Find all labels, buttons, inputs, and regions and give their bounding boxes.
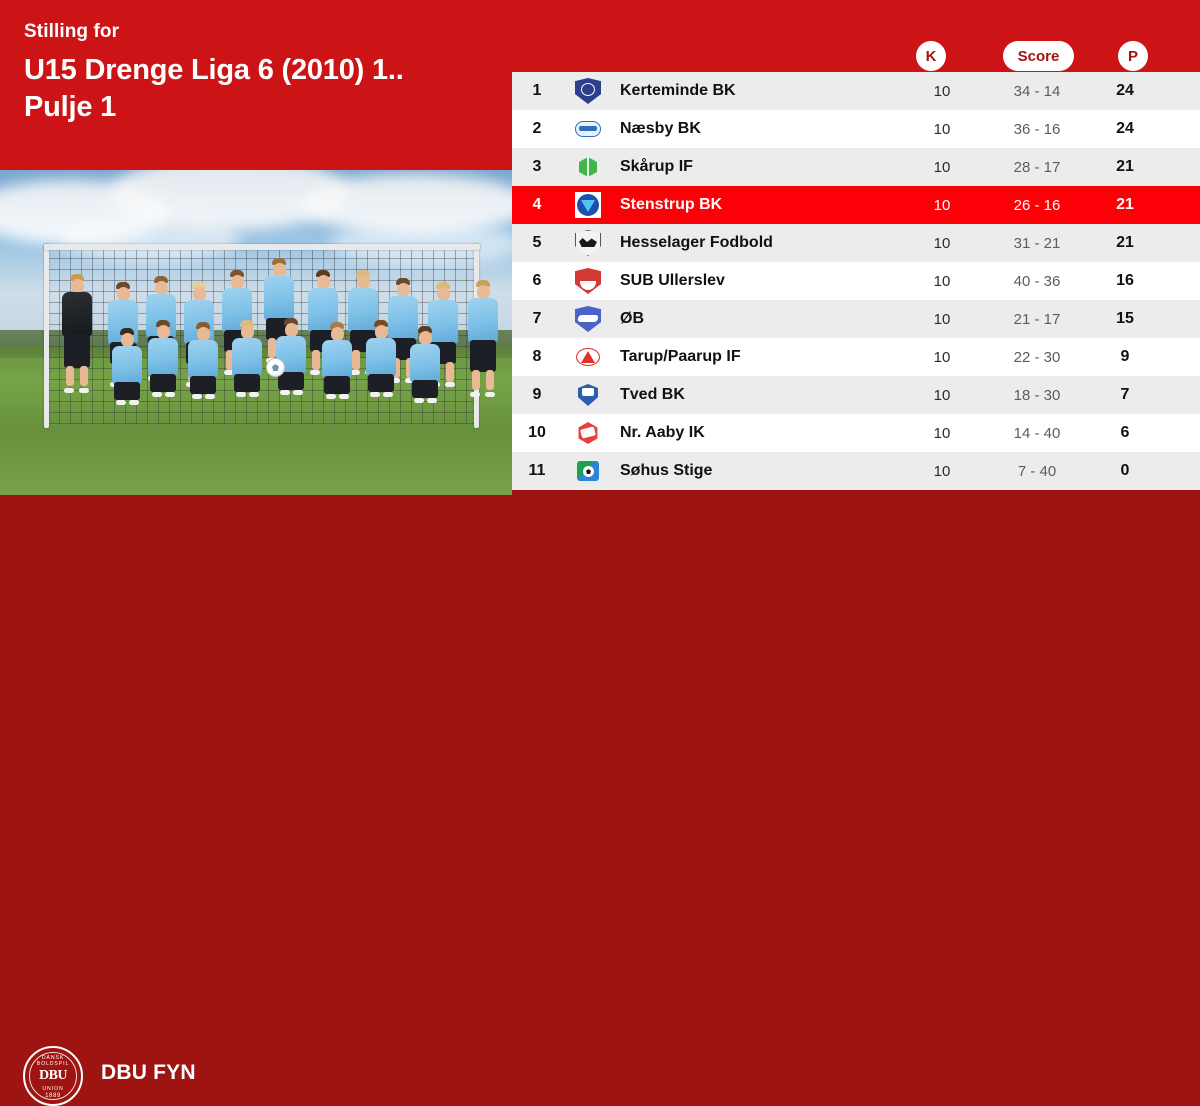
page-title-line-2: Pulje 1 <box>24 89 494 126</box>
row-goal-score: 26 - 16 <box>982 197 1092 214</box>
table-row[interactable]: 4Stenstrup BK1026 - 1621 <box>512 186 1200 224</box>
dbu-logo-icon: DANSK BOLDSPIL DBU UNION 1889 <box>23 1046 83 1106</box>
row-matches-played: 10 <box>902 197 982 214</box>
table-row[interactable]: 8Tarup/Paarup IF1022 - 309 <box>512 338 1200 376</box>
row-points: 0 <box>1092 462 1158 480</box>
row-points: 6 <box>1092 424 1158 442</box>
club-crest-cell <box>562 344 614 370</box>
page-title-line-1: U15 Drenge Liga 6 (2010) 1.. <box>24 52 494 89</box>
header-kicker: Stilling for <box>24 22 494 43</box>
row-position: 6 <box>512 272 562 290</box>
skaarup-if-crest <box>575 154 601 180</box>
row-points: 21 <box>1092 196 1158 214</box>
header-text-block: Stilling for U15 Drenge Liga 6 (2010) 1.… <box>24 22 494 126</box>
footer-org-label: DBU FYN <box>101 1061 196 1085</box>
table-row[interactable]: 7ØB1021 - 1715 <box>512 300 1200 338</box>
row-matches-played: 10 <box>902 121 982 138</box>
row-points: 21 <box>1092 158 1158 176</box>
row-goal-score: 36 - 16 <box>982 121 1092 138</box>
table-row[interactable]: 11Søhus Stige107 - 400 <box>512 452 1200 490</box>
row-position: 3 <box>512 158 562 176</box>
row-team-name: Tarup/Paarup IF <box>614 348 902 366</box>
row-position: 7 <box>512 310 562 328</box>
row-position: 8 <box>512 348 562 366</box>
row-goal-score: 22 - 30 <box>982 349 1092 366</box>
row-goal-score: 7 - 40 <box>982 463 1092 480</box>
sub-ullerslev-crest <box>575 268 601 294</box>
row-team-name: Nr. Aaby IK <box>614 424 902 442</box>
row-matches-played: 10 <box>902 235 982 252</box>
table-row[interactable]: 2Næsby BK1036 - 1624 <box>512 110 1200 148</box>
column-header-points[interactable]: P <box>1118 41 1148 71</box>
table-row[interactable]: 6SUB Ullerslev1040 - 3616 <box>512 262 1200 300</box>
club-crest-cell <box>562 192 614 218</box>
row-points: 24 <box>1092 82 1158 100</box>
table-row[interactable]: 3Skårup IF1028 - 1721 <box>512 148 1200 186</box>
row-matches-played: 10 <box>902 463 982 480</box>
row-matches-played: 10 <box>902 159 982 176</box>
row-matches-played: 10 <box>902 425 982 442</box>
club-crest-cell <box>562 78 614 104</box>
soehus-stige-crest <box>575 458 601 484</box>
row-position: 5 <box>512 234 562 252</box>
club-crest-cell <box>562 382 614 408</box>
table-row[interactable]: 5Hesselager Fodbold1031 - 2121 <box>512 224 1200 262</box>
table-row[interactable]: 1Kerteminde BK1034 - 1424 <box>512 72 1200 110</box>
row-position: 10 <box>512 424 562 442</box>
row-team-name: Skårup IF <box>614 158 902 176</box>
row-points: 7 <box>1092 386 1158 404</box>
nr-aaby-ik-crest <box>575 420 601 446</box>
club-crest-cell <box>562 230 614 256</box>
table-row[interactable]: 10Nr. Aaby IK1014 - 406 <box>512 414 1200 452</box>
row-goal-score: 21 - 17 <box>982 311 1092 328</box>
row-position: 4 <box>512 196 562 214</box>
column-header-matches[interactable]: K <box>916 41 946 71</box>
column-header-score[interactable]: Score <box>1003 41 1074 71</box>
photo-overlay <box>0 170 512 495</box>
row-points: 21 <box>1092 234 1158 252</box>
row-team-name: SUB Ullerslev <box>614 272 902 290</box>
row-team-name: Søhus Stige <box>614 462 902 480</box>
club-crest-cell <box>562 268 614 294</box>
table-row[interactable]: 9Tved BK1018 - 307 <box>512 376 1200 414</box>
row-team-name: Næsby BK <box>614 120 902 138</box>
row-goal-score: 28 - 17 <box>982 159 1092 176</box>
hesselager-fodbold-crest <box>575 230 601 256</box>
ob-crest <box>575 306 601 332</box>
row-team-name: Kerteminde BK <box>614 82 902 100</box>
logo-year: 1889 <box>25 1093 81 1099</box>
row-team-name: Stenstrup BK <box>614 196 902 214</box>
footer-band: DANSK BOLDSPIL DBU UNION 1889 DBU FYN <box>0 495 1200 630</box>
row-team-name: Hesselager Fodbold <box>614 234 902 252</box>
kerteminde-bk-crest <box>575 78 601 104</box>
club-crest-cell <box>562 420 614 446</box>
row-matches-played: 10 <box>902 273 982 290</box>
logo-arc-bottom: UNION <box>25 1086 81 1092</box>
standings-table: 1Kerteminde BK1034 - 14242Næsby BK1036 -… <box>512 72 1200 490</box>
club-crest-cell <box>562 458 614 484</box>
row-points: 15 <box>1092 310 1158 328</box>
club-crest-cell <box>562 154 614 180</box>
row-goal-score: 14 - 40 <box>982 425 1092 442</box>
naesby-bk-crest <box>575 116 601 142</box>
row-matches-played: 10 <box>902 349 982 366</box>
row-team-name: ØB <box>614 310 902 328</box>
row-team-name: Tved BK <box>614 386 902 404</box>
row-goal-score: 18 - 30 <box>982 387 1092 404</box>
row-position: 9 <box>512 386 562 404</box>
club-crest-cell <box>562 116 614 142</box>
row-matches-played: 10 <box>902 387 982 404</box>
tarup-paarup-if-crest <box>575 344 601 370</box>
row-points: 16 <box>1092 272 1158 290</box>
tved-bk-crest <box>575 382 601 408</box>
row-position: 1 <box>512 82 562 100</box>
row-matches-played: 10 <box>902 311 982 328</box>
page-title: U15 Drenge Liga 6 (2010) 1.. Pulje 1 <box>24 52 494 126</box>
logo-center-text: DBU <box>25 1068 81 1084</box>
row-goal-score: 40 - 36 <box>982 273 1092 290</box>
row-points: 24 <box>1092 120 1158 138</box>
logo-arc-top: DANSK BOLDSPIL <box>25 1055 81 1067</box>
row-goal-score: 34 - 14 <box>982 83 1092 100</box>
club-crest-cell <box>562 306 614 332</box>
row-goal-score: 31 - 21 <box>982 235 1092 252</box>
row-points: 9 <box>1092 348 1158 366</box>
stenstrup-bk-crest <box>575 192 601 218</box>
row-matches-played: 10 <box>902 83 982 100</box>
team-photo <box>0 170 512 495</box>
row-position: 2 <box>512 120 562 138</box>
row-position: 11 <box>512 462 562 480</box>
